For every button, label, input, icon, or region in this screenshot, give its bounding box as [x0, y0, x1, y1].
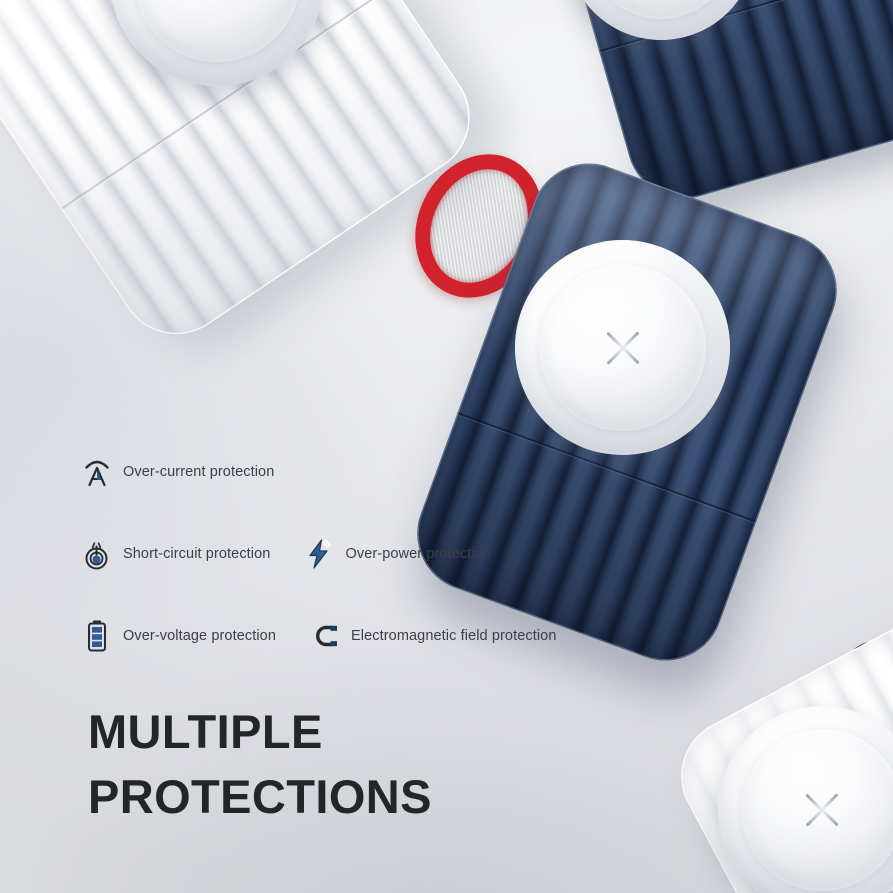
- product-marketing-image: Over-current protection Short-circuit pr…: [0, 0, 893, 893]
- charging-disc-white-bottom-right: [718, 706, 893, 893]
- headline-line-2: PROTECTIONS: [88, 765, 432, 830]
- feature-label: Over-power protection: [345, 546, 491, 562]
- x-logo: [741, 729, 893, 891]
- headline-line-1: MULTIPLE: [88, 700, 432, 765]
- feature-over-current: Over-current protection: [82, 455, 274, 489]
- feature-row-1: Over-current protection: [82, 444, 642, 500]
- short-circuit-icon: [82, 537, 112, 571]
- feature-label: Electromagnetic field protection: [351, 628, 557, 644]
- feature-short-circuit: Short-circuit protection: [82, 537, 270, 571]
- feature-row-2: Short-circuit protection Over-power prot…: [82, 526, 642, 582]
- x-logo: [134, 0, 301, 62]
- over-voltage-icon: [82, 619, 112, 653]
- over-power-icon: [304, 537, 334, 571]
- disc-inner-surface: [587, 0, 735, 19]
- feature-electromagnetic-field: Electromagnetic field protection: [310, 619, 557, 653]
- feature-over-power: Over-power protection: [304, 537, 491, 571]
- headline: MULTIPLE PROTECTIONS: [88, 700, 432, 830]
- electromagnetic-field-icon: [310, 619, 340, 653]
- feature-list: Over-current protection Short-circuit pr…: [82, 444, 642, 690]
- disc-inner-surface: [134, 0, 301, 62]
- disc-inner-surface: [539, 264, 707, 432]
- disc-inner-surface: [741, 729, 893, 891]
- feature-row-3: Over-voltage protection Electromagnetic …: [82, 608, 642, 664]
- charging-disc-navy-main: [515, 240, 730, 455]
- feature-label: Short-circuit protection: [123, 546, 270, 562]
- feature-label: Over-voltage protection: [123, 628, 276, 644]
- over-current-icon: [82, 455, 112, 489]
- x-logo: [587, 0, 735, 19]
- feature-over-voltage: Over-voltage protection: [82, 619, 276, 653]
- x-logo: [539, 264, 707, 432]
- feature-label: Over-current protection: [123, 464, 274, 480]
